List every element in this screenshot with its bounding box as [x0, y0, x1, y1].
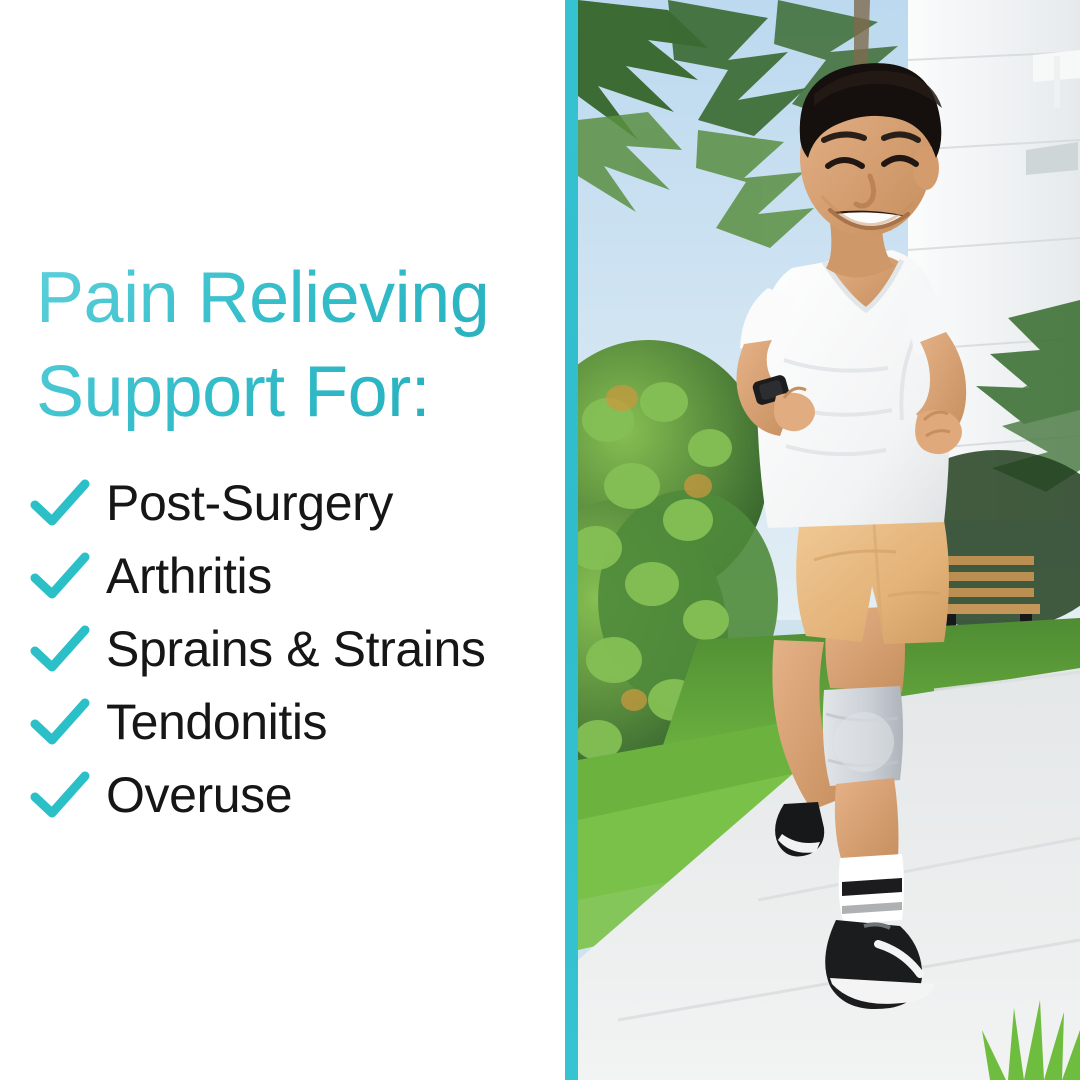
text-panel: Pain Relieving Support For: Post-Surgery…: [0, 0, 565, 1080]
checkmark-icon: [30, 769, 92, 821]
list-item-label: Arthritis: [106, 551, 272, 601]
checkmark-icon: [30, 623, 92, 675]
list-item: Sprains & Strains: [30, 612, 570, 685]
checkmark-icon: [30, 477, 92, 529]
list-item: Post-Surgery: [30, 466, 570, 539]
page-title: Pain Relieving Support For:: [36, 252, 556, 439]
list-item-label: Sprains & Strains: [106, 624, 485, 674]
checkmark-icon: [30, 550, 92, 602]
teal-divider: [565, 0, 578, 1080]
benefit-list: Post-Surgery Arthritis Sprains & Strains: [30, 466, 570, 831]
list-item-label: Overuse: [106, 770, 292, 820]
lifestyle-photo: [578, 0, 1080, 1080]
photo-illustration: [578, 0, 1080, 1080]
list-item: Overuse: [30, 758, 570, 831]
promo-graphic: Pain Relieving Support For: Post-Surgery…: [0, 0, 1080, 1080]
list-item-label: Post-Surgery: [106, 478, 393, 528]
list-item-label: Tendonitis: [106, 697, 327, 747]
list-item: Arthritis: [30, 539, 570, 612]
list-item: Tendonitis: [30, 685, 570, 758]
checkmark-icon: [30, 696, 92, 748]
